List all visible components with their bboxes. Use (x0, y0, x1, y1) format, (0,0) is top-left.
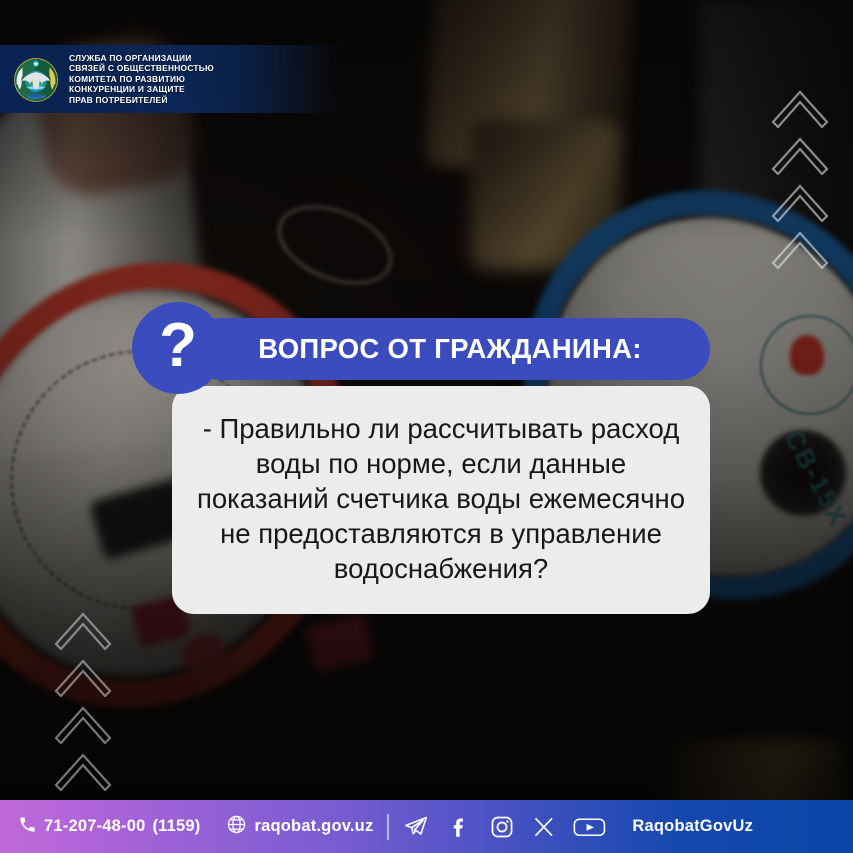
footer-divider (387, 814, 389, 840)
chevron-up-icon (769, 223, 831, 269)
organization-name: СЛУЖБА ПО ОРГАНИЗАЦИИ СВЯЗЕЙ С ОБЩЕСТВЕН… (69, 53, 214, 106)
social-links (403, 814, 606, 840)
phone-icon (18, 815, 37, 839)
youtube-icon[interactable] (573, 815, 606, 839)
question-body-text: - Правильно ли рассчитывать расход воды … (192, 411, 690, 586)
uzbekistan-coat-of-arms-icon (12, 55, 60, 103)
website-contact[interactable]: raqobat.gov.uz (226, 814, 373, 840)
org-line-4: КОНКУРЕНЦИИ И ЗАЩИТЕ (69, 84, 214, 95)
question-mark-icon: ? (159, 315, 197, 377)
question-banner-label: ВОПРОС ОТ ГРАЖДАНИНА: (258, 333, 642, 365)
chevron-decoration-bottom-left (52, 604, 114, 792)
question-mark-badge: ? (132, 302, 224, 394)
question-banner: ВОПРОС ОТ ГРАЖДАНИНА: (190, 318, 710, 380)
chevron-decoration-top-right (769, 82, 831, 270)
chevron-up-icon (769, 82, 831, 128)
org-line-2: СВЯЗЕЙ С ОБЩЕСТВЕННОСТЬЮ (69, 63, 214, 74)
org-line-3: КОМИТЕТА ПО РАЗВИТИЮ (69, 74, 214, 85)
phone-number: 71-207-48-00 (44, 817, 145, 836)
social-handle: RaqobatGovUz (632, 817, 753, 836)
question-card: - Правильно ли рассчитывать расход воды … (172, 386, 710, 614)
phone-contact[interactable]: 71-207-48-00 (1159) (18, 815, 200, 839)
instagram-icon[interactable] (489, 814, 515, 840)
facebook-icon[interactable] (446, 814, 472, 840)
telegram-icon[interactable] (403, 814, 429, 840)
org-line-5: ПРАВ ПОТРЕБИТЕЛЕЙ (69, 95, 214, 106)
chevron-up-icon (769, 129, 831, 175)
chevron-up-icon (769, 176, 831, 222)
globe-icon (226, 814, 247, 840)
chevron-up-icon (52, 745, 114, 791)
x-twitter-icon[interactable] (532, 815, 556, 839)
footer-bar: 71-207-48-00 (1159) raqobat.gov.uz (0, 800, 853, 853)
chevron-up-icon (52, 651, 114, 697)
org-line-1: СЛУЖБА ПО ОРГАНИЗАЦИИ (69, 53, 214, 64)
header-band: СЛУЖБА ПО ОРГАНИЗАЦИИ СВЯЗЕЙ С ОБЩЕСТВЕН… (0, 45, 340, 113)
chevron-up-icon (52, 698, 114, 744)
chevron-up-icon (52, 604, 114, 650)
website-url: raqobat.gov.uz (254, 817, 373, 836)
short-number: (1159) (152, 817, 200, 836)
